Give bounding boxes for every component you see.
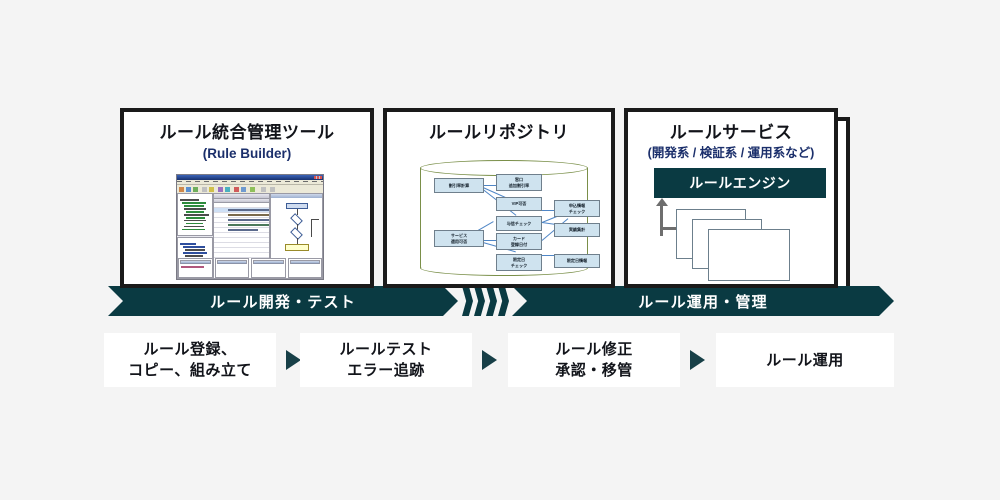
panel-rule-service-title: ルールサービス xyxy=(628,123,834,143)
banner-dev-test-label: ルール開発・テスト xyxy=(210,291,356,312)
banner-ops-manage: ルール運用・管理 xyxy=(512,286,894,316)
banner-dev-test: ルール開発・テスト xyxy=(108,286,458,316)
rule-engine-label: ルールエンジン xyxy=(689,173,791,193)
rule-node-label: VIP可否 xyxy=(512,201,527,207)
app-status-panes xyxy=(177,257,323,279)
step-arrow-icon xyxy=(690,350,705,370)
banner-chevron-icon xyxy=(462,286,473,316)
rule-node[interactable]: カード 登録日付 xyxy=(496,233,542,250)
step-arrow-icon xyxy=(286,350,301,370)
panel-rule-builder: ルール統合管理ツール (Rule Builder) xyxy=(120,108,374,288)
rule-node[interactable]: 限定日情報 xyxy=(554,254,600,268)
rule-node[interactable]: 割引率計算 xyxy=(434,178,484,193)
step-box-fix[interactable]: ルール修正 承認・移管 xyxy=(508,333,680,387)
rule-node[interactable]: 与信チェック xyxy=(496,216,542,231)
engine-arrow-up-head xyxy=(656,198,668,206)
diagram-canvas: ルール統合管理ツール (Rule Builder) xyxy=(0,0,1000,500)
step-box-register[interactable]: ルール登録、 コピー、組み立て xyxy=(104,333,276,387)
rule-node-label: 限定日 チェック xyxy=(511,257,527,268)
banner-chevron-icon xyxy=(474,286,485,316)
banner-ops-manage-label: ルール運用・管理 xyxy=(638,291,768,312)
rule-node[interactable]: 申込情報 チェック xyxy=(554,200,600,217)
banner-chevron-icon xyxy=(498,286,509,316)
rule-node-label: 申込情報 チェック xyxy=(569,203,585,214)
panel-rule-repository-title: ルールリポジトリ xyxy=(387,123,611,143)
step-box-fix-label: ルール修正 承認・移管 xyxy=(555,339,633,381)
step-box-test[interactable]: ルールテスト エラー追跡 xyxy=(300,333,472,387)
panel-rule-builder-title: ルール統合管理ツール xyxy=(124,123,370,143)
rule-node-label: 実績集計 xyxy=(569,227,585,233)
rule-node[interactable]: VIP可否 xyxy=(496,197,542,211)
rule-node-label: カード 登録日付 xyxy=(511,236,527,247)
rule-node-label: サービス 適用可否 xyxy=(451,233,467,244)
step-box-operate[interactable]: ルール運用 xyxy=(716,333,894,387)
rule-node-label: 窓口 追加割引率 xyxy=(509,177,529,188)
rule-engine-box[interactable]: ルールエンジン xyxy=(654,168,826,198)
step-arrow-icon xyxy=(482,350,497,370)
app-titlebar xyxy=(177,175,323,180)
step-box-operate-label: ルール運用 xyxy=(766,350,844,371)
panel-rule-repository: ルールリポジトリ 割引率計算 窓口 追加割引率 xyxy=(383,108,615,288)
rule-node[interactable]: 実績集計 xyxy=(554,223,600,237)
rule-node[interactable]: 窓口 追加割引率 xyxy=(496,174,542,191)
rule-node-label: 与信チェック xyxy=(507,221,532,227)
rule-node[interactable]: 限定日 チェック xyxy=(496,254,542,271)
engine-arrow-vertical-shaft xyxy=(660,204,663,236)
step-box-register-label: ルール登録、 コピー、組み立て xyxy=(128,339,252,381)
rule-node-label: 限定日情報 xyxy=(567,258,587,264)
repository-cylinder: 割引率計算 窓口 追加割引率 VIP可否 与信チェック サービス 適用可否 カー… xyxy=(420,160,588,276)
rule-node[interactable]: サービス 適用可否 xyxy=(434,230,484,247)
panel-rule-builder-subtitle: (Rule Builder) xyxy=(124,146,370,162)
banner-chevron-icon xyxy=(486,286,497,316)
panel-rule-service-subtitle: (開発系 / 検証系 / 運用系など) xyxy=(628,146,834,160)
rule-service-card[interactable] xyxy=(708,229,790,281)
rule-builder-app-screenshot xyxy=(176,174,324,280)
step-box-test-label: ルールテスト エラー追跡 xyxy=(339,339,432,381)
rule-node-label: 割引率計算 xyxy=(449,183,469,189)
panel-rule-service: ルールサービス (開発系 / 検証系 / 運用系など) ルールエンジン xyxy=(624,108,838,288)
